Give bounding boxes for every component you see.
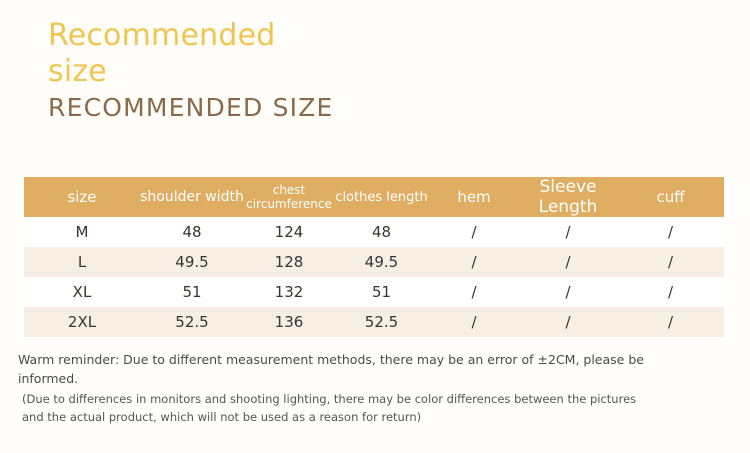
table-cell: 48 — [334, 217, 429, 247]
color-difference-note: (Due to differences in monitors and shoo… — [22, 390, 647, 426]
table-cell: 51 — [140, 277, 244, 307]
table-cell: 136 — [244, 307, 334, 337]
page-title-block: Recommended size — [48, 18, 308, 90]
table-cell: 128 — [244, 247, 334, 277]
table-cell: / — [519, 217, 617, 247]
table-cell: 49.5 — [140, 247, 244, 277]
column-header-sleeve-length: Sleeve Length — [519, 177, 617, 217]
table-cell: 52.5 — [334, 307, 429, 337]
column-header-sleeve-length-label: Sleeve Length — [519, 177, 617, 217]
column-header-size: size — [24, 177, 140, 217]
table-cell: 48 — [140, 217, 244, 247]
measurement-note: Warm reminder: Due to different measurem… — [18, 350, 658, 388]
table-cell: / — [519, 277, 617, 307]
table-cell-size: XL — [24, 277, 140, 307]
size-chart-table: size shoulder width chest circumference … — [24, 177, 724, 337]
table-cell: / — [429, 217, 519, 247]
column-header-clothes-length-label: clothes length — [334, 190, 429, 205]
table-cell: / — [519, 307, 617, 337]
table-body: M4812448///L49.512849.5///XL5113251///2X… — [24, 217, 724, 337]
column-header-shoulder-width: shoulder width — [140, 177, 244, 217]
column-header-chest-circumference-label: chest circumference — [244, 183, 334, 211]
table-cell-size: M — [24, 217, 140, 247]
table-cell: / — [519, 247, 617, 277]
table-cell: / — [617, 247, 724, 277]
table-cell: / — [429, 307, 519, 337]
table-header-row: size shoulder width chest circumference … — [24, 177, 724, 217]
table-cell: / — [617, 277, 724, 307]
column-header-shoulder-width-label: shoulder width — [140, 189, 244, 205]
table-cell: / — [617, 307, 724, 337]
table-cell-size: 2XL — [24, 307, 140, 337]
table-cell: / — [429, 247, 519, 277]
page-title: Recommended size — [48, 18, 308, 90]
table-row: L49.512849.5/// — [24, 247, 724, 277]
page-subtitle: RECOMMENDED SIZE — [48, 93, 334, 123]
table-header: size shoulder width chest circumference … — [24, 177, 724, 217]
column-header-clothes-length: clothes length — [334, 177, 429, 217]
table-cell: / — [617, 217, 724, 247]
column-header-cuff: cuff — [617, 177, 724, 217]
table-cell: 132 — [244, 277, 334, 307]
column-header-size-label: size — [24, 188, 140, 206]
table-cell: 49.5 — [334, 247, 429, 277]
table-row: 2XL52.513652.5/// — [24, 307, 724, 337]
table-row: XL5113251/// — [24, 277, 724, 307]
column-header-chest-circumference: chest circumference — [244, 177, 334, 217]
table-cell: 124 — [244, 217, 334, 247]
column-header-cuff-label: cuff — [617, 188, 724, 206]
table-cell: / — [429, 277, 519, 307]
table-cell: 51 — [334, 277, 429, 307]
table-cell: 52.5 — [140, 307, 244, 337]
column-header-hem-label: hem — [429, 188, 519, 206]
table-row: M4812448/// — [24, 217, 724, 247]
table-cell-size: L — [24, 247, 140, 277]
column-header-hem: hem — [429, 177, 519, 217]
